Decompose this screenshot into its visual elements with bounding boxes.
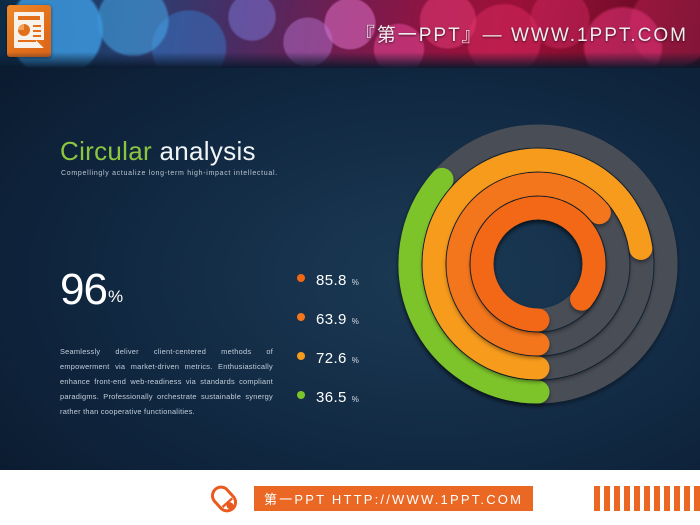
circular-chart-svg bbox=[392, 118, 684, 410]
powerpoint-document-icon bbox=[7, 5, 51, 57]
big-statistic-unit: % bbox=[108, 287, 123, 306]
legend-color-swatch-icon bbox=[297, 274, 305, 282]
slide-canvas: 『第一PPT』— WWW.1PPT.COM Circular analysis … bbox=[0, 0, 700, 525]
legend-item[interactable]: 72.6 % bbox=[297, 350, 359, 389]
top-banner: 『第一PPT』— WWW.1PPT.COM bbox=[0, 0, 700, 68]
page-subtitle: Compellingly actualize long-term high-im… bbox=[61, 170, 278, 177]
pie-glyph bbox=[18, 24, 30, 36]
legend-value: 36.5 bbox=[316, 389, 347, 406]
legend-item[interactable]: 85.8 % bbox=[297, 272, 359, 311]
brand-text: 『第一PPT』— WWW.1PPT.COM bbox=[356, 20, 688, 47]
legend-unit: % bbox=[352, 395, 359, 404]
legend-color-swatch-icon bbox=[297, 352, 305, 360]
legend-value: 85.8 bbox=[316, 272, 347, 289]
legend-unit: % bbox=[352, 278, 359, 287]
chart-arc[interactable] bbox=[482, 208, 594, 320]
page-title: Circular analysis bbox=[60, 136, 256, 167]
circular-chart bbox=[392, 118, 684, 410]
title-primary: Circular bbox=[60, 136, 152, 166]
legend-color-swatch-icon bbox=[297, 313, 305, 321]
big-statistic-value: 96 bbox=[60, 265, 107, 314]
big-statistic: 96% bbox=[60, 268, 123, 312]
legend-value: 72.6 bbox=[316, 350, 347, 367]
banner-fade bbox=[0, 52, 700, 68]
body-paragraph: Seamlessly deliver client-centered metho… bbox=[60, 344, 273, 419]
pencil-icon bbox=[207, 482, 241, 516]
legend-value: 63.9 bbox=[316, 311, 347, 328]
title-secondary: analysis bbox=[152, 136, 256, 166]
legend-item[interactable]: 36.5 % bbox=[297, 389, 359, 428]
footer-url-bar[interactable]: 第一PPT HTTP://WWW.1PPT.COM bbox=[254, 486, 533, 511]
footer-stripes bbox=[594, 486, 700, 511]
legend-unit: % bbox=[352, 317, 359, 326]
chart-legend: 85.8 % 63.9 % 72.6 % 36.5 % bbox=[297, 272, 359, 428]
legend-color-swatch-icon bbox=[297, 391, 305, 399]
footer-url-text: 第一PPT HTTP://WWW.1PPT.COM bbox=[264, 489, 523, 508]
legend-item[interactable]: 63.9 % bbox=[297, 311, 359, 350]
legend-unit: % bbox=[352, 356, 359, 365]
